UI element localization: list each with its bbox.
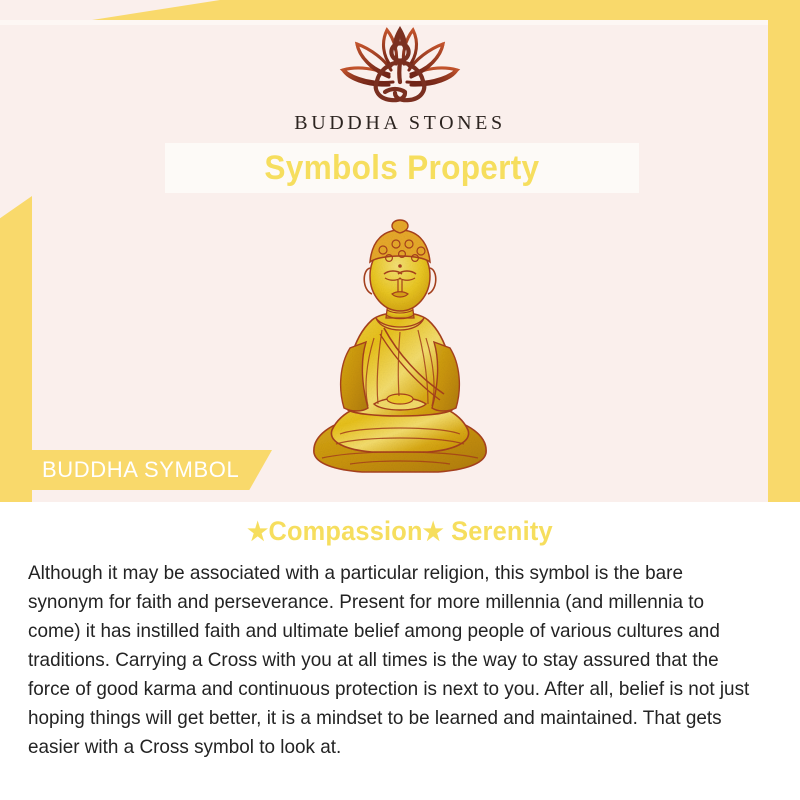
golden-buddha-statue-illustration [288, 198, 512, 488]
ribbon-label: BUDDHA SYMBOL [20, 457, 239, 483]
content-panel: ★Compassion★ Serenity Although it may be… [0, 502, 800, 800]
subheading-word-compassion: Compassion [268, 516, 422, 546]
page-title: Symbols Property [264, 149, 539, 188]
brand-logo: BUDDHA STONES [0, 22, 800, 135]
brand-wordmark: BUDDHA STONES [294, 112, 505, 135]
lotus-meditation-figure-icon [315, 22, 485, 108]
section-ribbon: BUDDHA SYMBOL [20, 450, 272, 490]
subheading-word-serenity: Serenity [451, 516, 553, 546]
title-banner: Symbols Property [165, 143, 639, 193]
decorative-top-band [0, 0, 800, 20]
content-subheading: ★Compassion★ Serenity [24, 516, 776, 547]
content-paragraph: Although it may be associated with a par… [28, 559, 750, 762]
hero-image-container [288, 198, 512, 488]
star-icon-2: ★ [423, 518, 444, 546]
star-icon-1: ★ [247, 518, 268, 546]
page-root: BUDDHA STONES Symbols Property [0, 0, 800, 800]
